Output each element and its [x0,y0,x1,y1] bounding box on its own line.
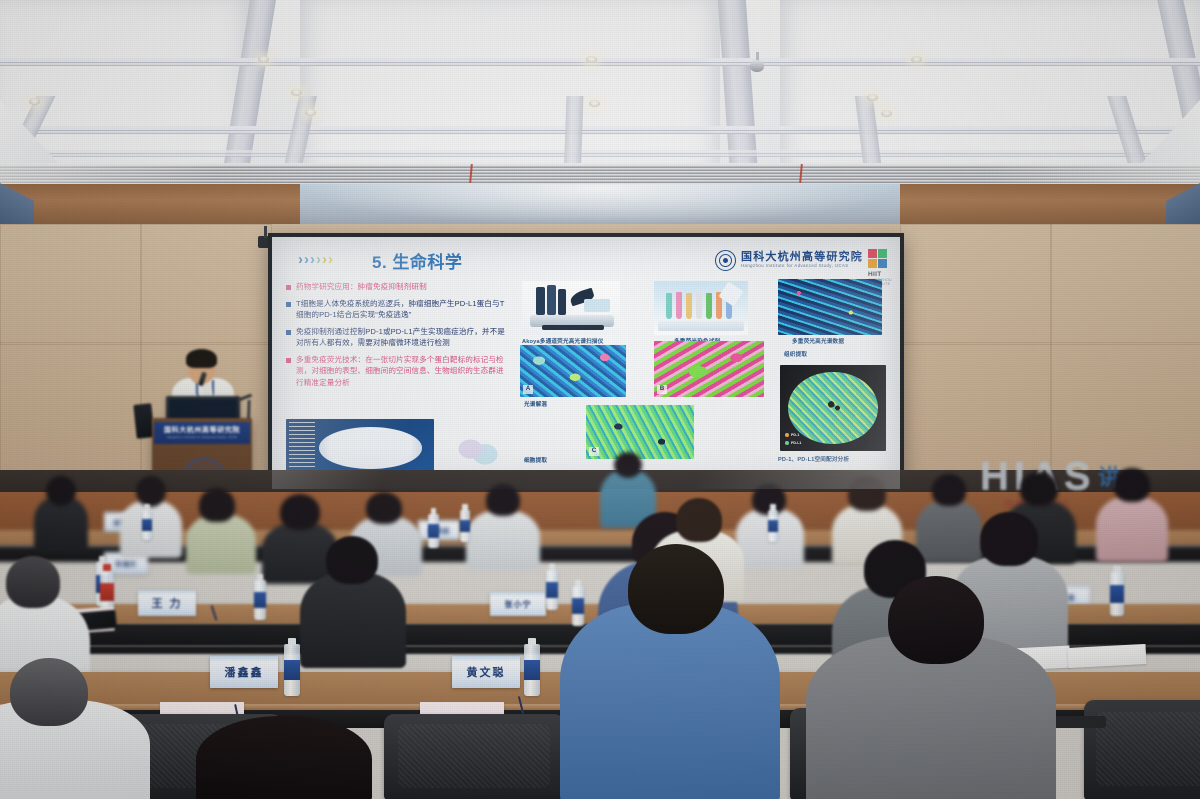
panel-label-a: A [523,385,533,394]
slide-figure-pdl1-spatial: PD-1 PD-L1 [780,365,886,451]
slide-figure-cell-extraction: C [586,405,694,459]
slide-figure-cell-cluster-map [286,419,434,477]
slide-figure-caption: PD-1、PD-L1空间配对分析 [778,455,849,463]
legend-dot-pd1 [785,433,789,437]
water-bottle [768,510,778,542]
institute-seal-icon [715,250,736,271]
bullet-text: 药物学研究应用：肿瘤免疫抑制剂研制 [296,281,427,293]
chevron-decoration: › › › › › › [298,252,333,267]
chevron-right-icon: › [298,252,303,267]
slide-figure-caption: 多重荧光高光谱数据 [792,337,844,345]
logo-english-name: Hangzhou Institute for Advanced Study, U… [741,263,863,269]
audience-person-head [628,544,724,634]
ceiling-downlight [305,109,316,116]
audience-person [186,514,256,574]
podium-banner: 国科大杭州高等研究院 Hangzhou Institute for Advanc… [154,422,250,444]
audience-person-head [366,492,402,524]
podium-banner-en: Hangzhou Institute for Advanced Study, U… [167,435,237,440]
water-bottle [284,644,300,696]
ceiling-downlight [867,94,878,101]
bullet-text: 多重免疫荧光技术：在一张切片实现多个蛋白靶标的标记与检测，对细胞的表型、细胞间的… [296,354,508,389]
slide-figure-reagents [654,281,748,335]
audience-person-head [46,476,76,506]
bullet-square-icon [286,302,291,307]
slide-figure-caption: Akoya多通道荧光高光谱扫描仪 [522,337,604,345]
chevron-right-icon: › [304,252,309,267]
chevron-right-icon: › [322,252,327,267]
ceiling-downlight [586,56,597,63]
placard-zhang-xiaoning: 张小宁 [490,592,546,616]
audience-person-head [1114,468,1150,502]
audience-person-head [486,484,520,516]
audience-person-head [10,658,88,726]
water-bottle [524,644,540,696]
water-bottle [460,510,470,542]
audience-person-head [136,476,166,507]
sp-mark-icon: HIIT HANGZHOU INSTITUTE [868,249,892,271]
legend-label-pdl1: PD-L1 [791,441,801,445]
bullet-item: 免疫抑制剂通过控制PD-1或PD-L1产生实现癌症治疗，并不是对所有人都有效，需… [286,326,508,349]
bullet-square-icon [286,330,291,335]
ceiling-downlight [911,56,922,63]
audience-person-head [614,452,642,478]
slide-figure-caption: 组织提取 [784,350,807,358]
water-bottle [254,580,266,620]
ceiling [0,0,1200,178]
vent-highlight [0,163,1200,185]
audience-person-head [6,556,60,608]
slide-figure-spectral-unmixing: A [520,345,626,397]
placard-huang-wencong: 黄文聪 [452,656,520,688]
audience-person-head [1020,472,1058,506]
placard-pan-xinxin: 潘鑫鑫 [210,656,278,688]
audience-person-head [676,498,722,542]
conference-photo: › › › › › › 5. 生命科学 国科大杭州高等研究院 Hangzhou … [0,0,1200,799]
logo-chinese-name: 国科大杭州高等研究院 [741,251,863,263]
slide-figure-microscope [522,281,620,335]
ceiling-camera-icon [750,52,764,72]
chevron-right-icon: › [316,252,321,267]
slide-figure-caption: 光谱解混 [524,400,547,408]
bullet-item: 药物学研究应用：肿瘤免疫抑制剂研制 [286,281,508,293]
placard-liang-rongwei: 梁荣威 [418,520,460,540]
ceiling-downlight [29,98,40,105]
audience-person [300,572,406,668]
chair [384,714,564,799]
audience-person-head [326,536,378,584]
bullet-text: 免疫抑制剂通过控制PD-1或PD-L1产生实现癌症治疗，并不是对所有人都有效，需… [296,326,508,349]
ceiling-downlight [291,89,302,96]
water-bottle [428,514,439,548]
water-bottle [142,510,152,540]
audience-person-head [932,474,966,506]
legend-dot-pdl1 [785,441,789,445]
projection-screen[interactable]: › › › › › › 5. 生命科学 国科大杭州高等研究院 Hangzhou … [268,233,904,493]
chair [1084,700,1200,799]
chevron-right-icon: › [328,252,333,267]
slide-header: › › › › › › 5. 生命科学 国科大杭州高等研究院 Hangzhou … [272,243,900,277]
audience-person-head [199,488,235,522]
slide-figure-multiplex-data [778,279,882,335]
slide-bullet-list: 药物学研究应用：肿瘤免疫抑制剂研制 T细胞是人体免疫系统的巡逻兵，肿瘤细胞产生P… [286,281,508,393]
audience-person-head [888,576,984,664]
placard-wang-li: 王 力 [138,590,196,616]
bullet-item: 多重免疫荧光技术：在一张切片实现多个蛋白靶标的标记与检测，对细胞的表型、细胞间的… [286,354,508,389]
water-bottle [546,570,558,610]
audience-person-head [280,494,320,530]
water-bottle [572,586,584,626]
water-bottle [1110,572,1124,616]
slide-figure-panel-b: B [654,341,764,397]
ceiling-downlight [589,100,600,107]
audience-person-foreground [196,716,372,799]
legend-label-pd1: PD-1 [791,433,799,437]
bullet-square-icon [286,358,291,363]
audience-person-head [848,476,886,511]
panel-label-b: B [657,385,667,394]
notebook [1068,644,1147,668]
podium-banner-cn: 国科大杭州高等研究院 [164,427,240,435]
audience-person [466,510,540,570]
ceiling-downlight [258,56,269,63]
logo-hiit-text: HIIT [868,271,881,278]
audience-person-head [980,512,1038,566]
bullet-text: T细胞是人体免疫系统的巡逻兵，肿瘤细胞产生PD-L1蛋白与T细胞的PD-1结合后… [296,298,508,321]
projector-arm [264,226,267,238]
institute-logo: 国科大杭州高等研究院 Hangzhou Institute for Advanc… [715,249,892,271]
bullet-square-icon [286,285,291,290]
chevron-right-icon: › [310,252,315,267]
wall-sign-hias: HIAS 讲 传播海量知识 [980,456,1195,510]
audience-person [916,500,982,562]
speaker-hair [186,349,217,368]
chair-arm [1054,716,1106,728]
panel-label-c: C [589,447,599,456]
bullet-item: T细胞是人体免疫系统的巡逻兵，肿瘤细胞产生PD-L1蛋白与T细胞的PD-1结合后… [286,298,508,321]
ceiling-light-glow [300,184,900,226]
slide-figure-caption: 细胞提取 [524,456,547,464]
slide-title: 5. 生命科学 [372,248,462,273]
audience-person [1096,496,1168,562]
slide-figure-cell-diagram [452,427,498,471]
ceiling-downlight [881,110,892,117]
